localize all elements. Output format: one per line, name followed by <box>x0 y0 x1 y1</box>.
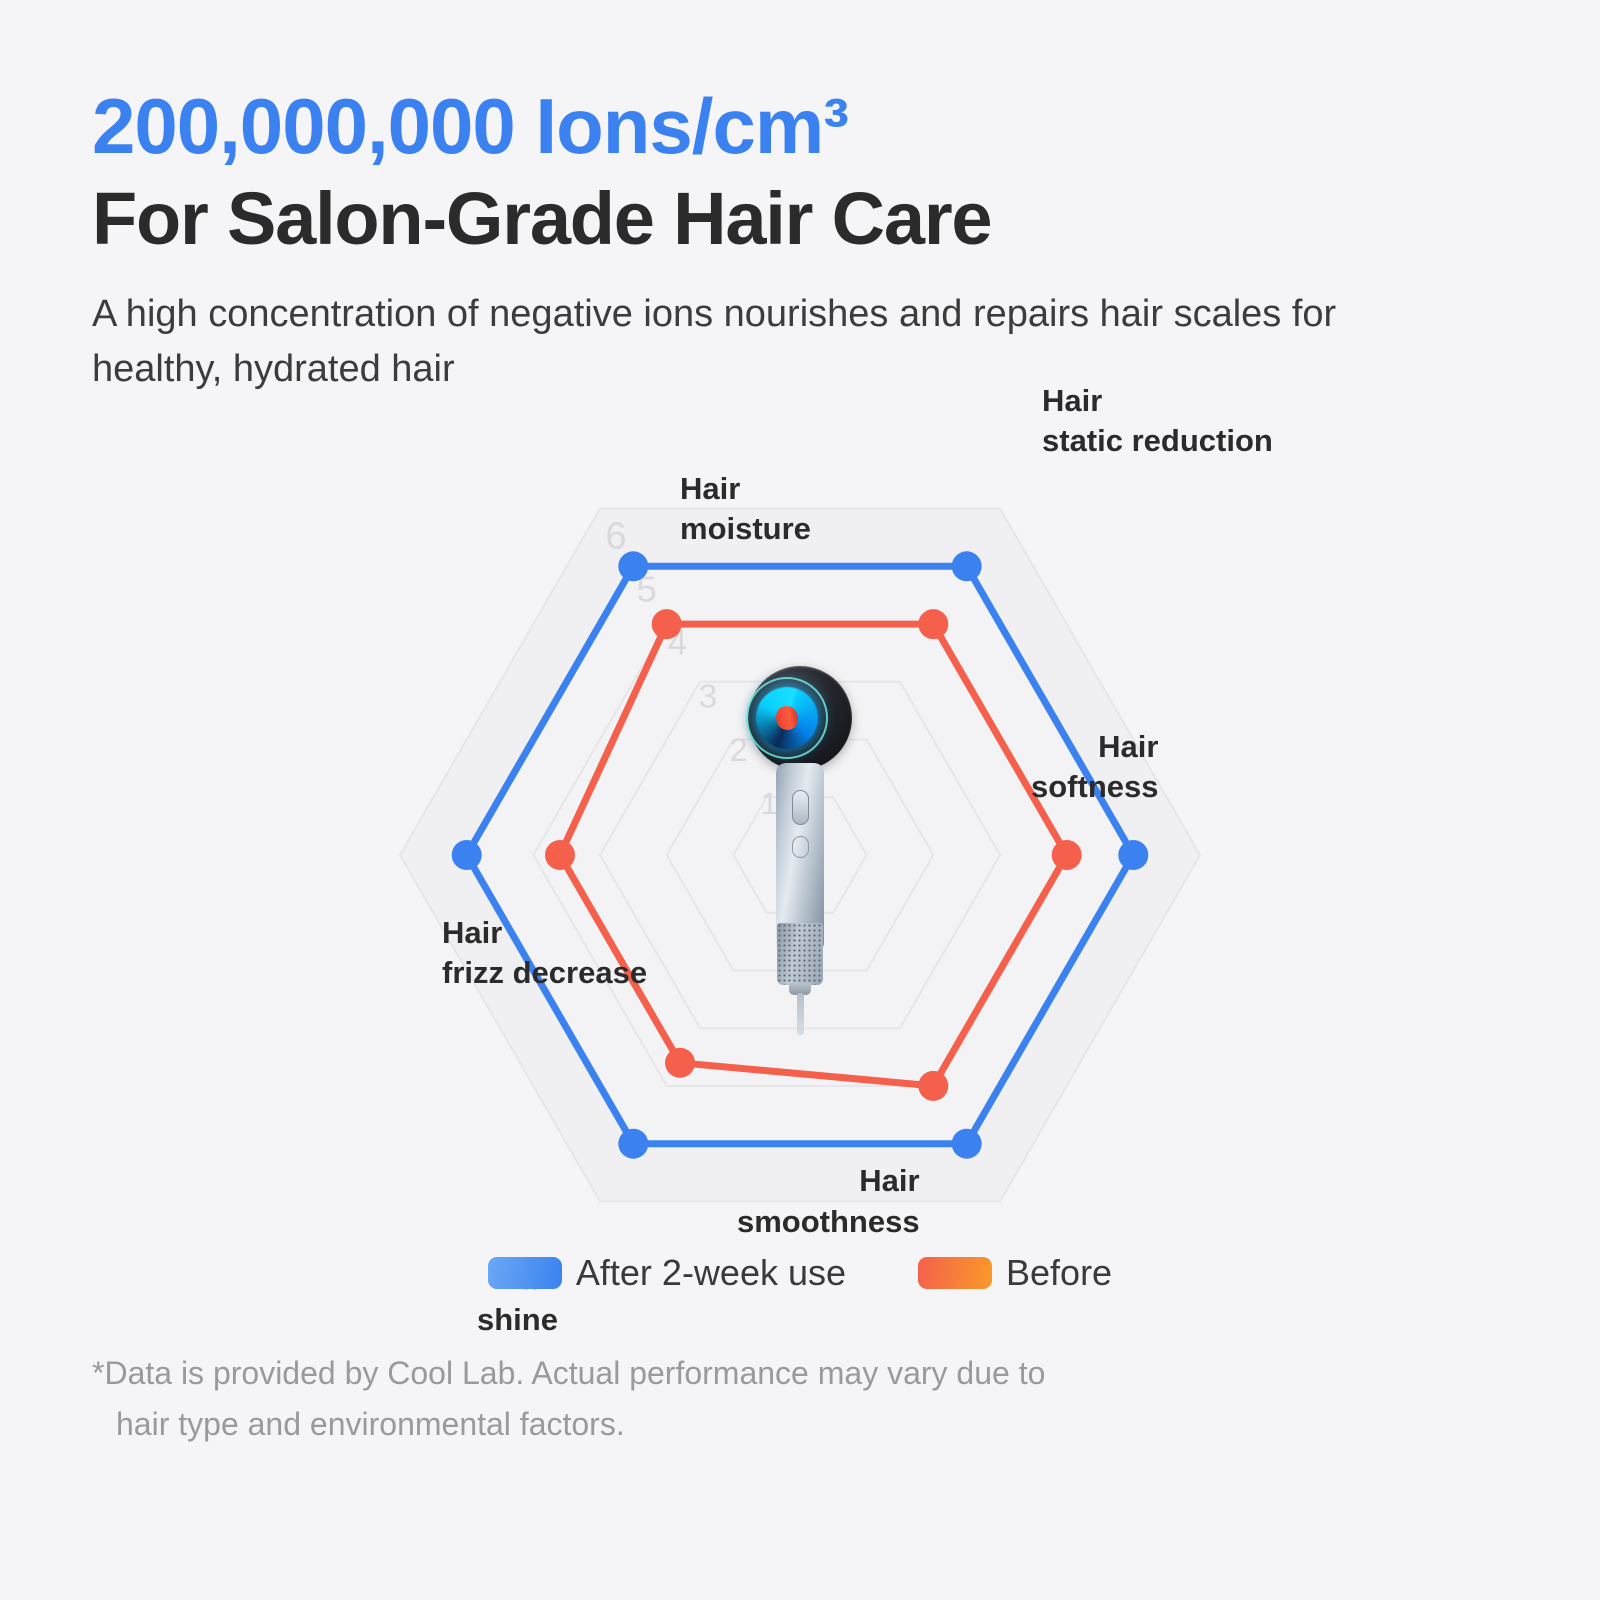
footnote: *Data is provided by Cool Lab. Actual pe… <box>92 1348 1492 1450</box>
radar-point-1-5 <box>1052 840 1082 870</box>
header: 200,000,000 Ions/cm³ For Salon-Grade Hai… <box>92 86 1512 397</box>
legend-swatch-before <box>918 1257 992 1289</box>
radar-point-1-3 <box>665 1048 695 1078</box>
radar-point-0-1 <box>618 551 648 581</box>
axis-label-0: Hair static reduction <box>1042 381 1273 462</box>
axis-label-4: Hair smoothness <box>737 1161 920 1242</box>
radar-point-0-2 <box>452 840 482 870</box>
radar-point-1-1 <box>652 609 682 639</box>
radar-point-1-4 <box>918 1071 948 1101</box>
radar-point-0-5 <box>1118 840 1148 870</box>
dryer-cord <box>797 993 804 1035</box>
chart-legend: After 2-week use Before <box>0 1252 1600 1294</box>
headline-ions: 200,000,000 Ions/cm³ <box>92 86 1512 168</box>
axis-label-5: Hair softness <box>1031 727 1158 808</box>
legend-label-before: Before <box>1006 1252 1112 1294</box>
dryer-filter-mesh <box>777 923 823 985</box>
radar-point-0-0 <box>952 551 982 581</box>
legend-item-after: After 2-week use <box>488 1252 846 1294</box>
dryer-mode-button-icon <box>792 836 809 858</box>
radar-tick-6: 6 <box>605 515 626 557</box>
legend-item-before: Before <box>918 1252 1112 1294</box>
footnote-line-1: *Data is provided by Cool Lab. Actual pe… <box>92 1355 1045 1391</box>
legend-swatch-after <box>488 1257 562 1289</box>
hair-dryer-illustration <box>735 666 865 1011</box>
radar-point-1-0 <box>918 609 948 639</box>
infographic-page: 200,000,000 Ions/cm³ For Salon-Grade Hai… <box>0 0 1600 1600</box>
dryer-power-button-icon <box>792 790 809 825</box>
legend-label-after: After 2-week use <box>576 1252 846 1294</box>
axis-label-1: Hair moisture <box>680 469 811 550</box>
headline-main: For Salon-Grade Hair Care <box>92 178 1512 261</box>
radar-tick-3: 3 <box>699 679 718 716</box>
radar-point-0-4 <box>952 1129 982 1159</box>
radar-point-0-3 <box>618 1129 648 1159</box>
radar-chart: 123456 Hair static reductionHair moistur… <box>0 478 1600 1238</box>
footnote-line-2: hair type and environmental factors. <box>92 1399 1492 1450</box>
radar-point-1-2 <box>545 840 575 870</box>
axis-label-2: Hair frizz decrease <box>442 913 647 994</box>
